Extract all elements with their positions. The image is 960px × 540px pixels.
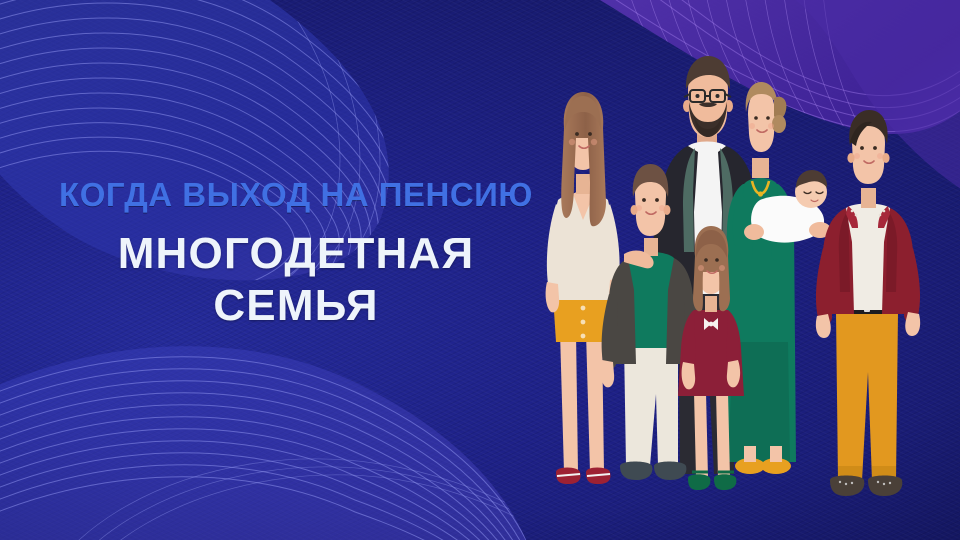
headline-line-1: КОГДА ВЫХОД НА ПЕНСИЮ (0, 178, 592, 212)
figure-teen-son (816, 110, 920, 496)
poster-canvas: КОГДА ВЫХОД НА ПЕНСИЮ МНОГОДЕТНАЯ СЕМЬЯ (0, 0, 960, 540)
headline-line-3: СЕМЬЯ (0, 280, 592, 332)
headline-line-2: МНОГОДЕТНАЯ (0, 228, 592, 280)
family-illustration (528, 42, 960, 520)
figure-mother (722, 82, 796, 474)
headline-block: КОГДА ВЫХОД НА ПЕНСИЮ МНОГОДЕТНАЯ СЕМЬЯ (0, 178, 592, 332)
